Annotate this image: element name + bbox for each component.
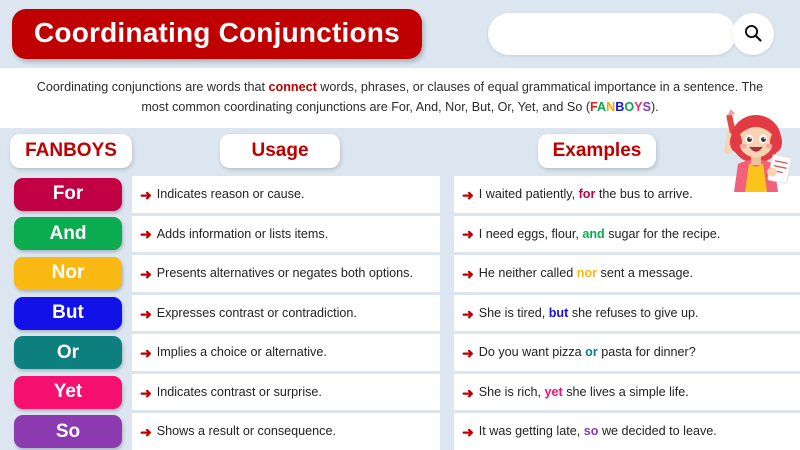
conjunction-chip-cell: For	[0, 176, 132, 213]
acronym-letter-y: Y	[634, 100, 642, 114]
example-highlight-word: yet	[545, 385, 563, 399]
table-row: Nor➜Presents alternatives or negates bot…	[0, 255, 800, 292]
example-highlight-word: so	[584, 424, 599, 438]
example-text-pre: She is tired,	[479, 306, 549, 320]
page-title-plate: Coordinating Conjunctions	[12, 9, 422, 59]
table-row: Yet➜Indicates contrast or surprise.➜She …	[0, 374, 800, 411]
example-text-pre: I waited patiently,	[479, 187, 579, 201]
conjunction-chip-or[interactable]: Or	[14, 336, 122, 369]
usage-text: Expresses contrast or contradiction.	[157, 305, 357, 322]
example-text-pre: I need eggs, flour,	[479, 227, 583, 241]
column-gap	[440, 295, 454, 332]
usage-text: Adds information or lists items.	[157, 226, 328, 243]
usage-text: Indicates reason or cause.	[157, 186, 305, 203]
example-highlight-word: nor	[577, 266, 597, 280]
bullet-arrow-icon: ➜	[462, 386, 474, 400]
conjunction-chip-but[interactable]: But	[14, 297, 122, 330]
search-input[interactable]	[488, 13, 736, 55]
example-text-post: the bus to arrive.	[595, 187, 692, 201]
bullet-arrow-icon: ➜	[140, 188, 152, 202]
description-band: Coordinating conjunctions are words that…	[0, 68, 800, 128]
example-highlight-word: but	[549, 306, 569, 320]
bullet-arrow-icon: ➜	[140, 386, 152, 400]
example-text-pre: Do you want pizza	[479, 345, 585, 359]
usage-cell: ➜Implies a choice or alternative.	[132, 334, 440, 371]
column-gap	[440, 374, 454, 411]
conjunction-chip-cell: But	[0, 295, 132, 332]
example-highlight-word: for	[579, 187, 596, 201]
acronym-letter-a: A	[597, 100, 606, 114]
conjunction-chip-for[interactable]: For	[14, 178, 122, 211]
bullet-arrow-icon: ➜	[462, 267, 474, 281]
table-row: But➜Expresses contrast or contradiction.…	[0, 295, 800, 332]
description-part3: ).	[651, 100, 659, 114]
example-text-pre: He neither called	[479, 266, 577, 280]
example-text: He neither called nor sent a message.	[479, 265, 693, 282]
table-row: Or➜Implies a choice or alternative.➜Do y…	[0, 334, 800, 371]
example-cell: ➜I waited patiently, for the bus to arri…	[454, 176, 800, 213]
example-highlight-word: and	[582, 227, 604, 241]
column-gap	[440, 413, 454, 450]
usage-cell: ➜Expresses contrast or contradiction.	[132, 295, 440, 332]
bullet-arrow-icon: ➜	[140, 307, 152, 321]
conjunction-chip-cell: Or	[0, 334, 132, 371]
usage-cell: ➜Presents alternatives or negates both o…	[132, 255, 440, 292]
example-cell: ➜I need eggs, flour, and sugar for the r…	[454, 216, 800, 253]
usage-text: Shows a result or consequence.	[157, 423, 336, 440]
bullet-arrow-icon: ➜	[462, 227, 474, 241]
example-text-pre: It was getting late,	[479, 424, 584, 438]
column-header-examples: Examples	[538, 134, 656, 168]
usage-cell: ➜Shows a result or consequence.	[132, 413, 440, 450]
conjunction-chip-cell: And	[0, 216, 132, 253]
column-gap	[440, 334, 454, 371]
column-header-usage: Usage	[220, 134, 340, 168]
example-cell: ➜Do you want pizza or pasta for dinner?	[454, 334, 800, 371]
usage-text: Implies a choice or alternative.	[157, 344, 327, 361]
description-text: Coordinating conjunctions are words that…	[35, 78, 765, 117]
usage-text: Indicates contrast or surprise.	[157, 384, 322, 401]
example-highlight-word: or	[585, 345, 598, 359]
conjunction-chip-cell: Yet	[0, 374, 132, 411]
example-text-post: she refuses to give up.	[568, 306, 698, 320]
acronym-letter-s: S	[643, 100, 651, 114]
conjunctions-table: For➜Indicates reason or cause.➜I waited …	[0, 176, 800, 450]
usage-cell: ➜Indicates contrast or surprise.	[132, 374, 440, 411]
bullet-arrow-icon: ➜	[462, 307, 474, 321]
conjunction-chip-cell: Nor	[0, 255, 132, 292]
acronym-letter-n: N	[606, 100, 615, 114]
bullet-arrow-icon: ➜	[462, 346, 474, 360]
example-cell: ➜She is rich, yet she lives a simple lif…	[454, 374, 800, 411]
acronym-letter-o: O	[624, 100, 634, 114]
conjunction-chip-cell: So	[0, 413, 132, 450]
example-text-post: she lives a simple life.	[563, 385, 689, 399]
bullet-arrow-icon: ➜	[140, 425, 152, 439]
example-cell: ➜She is tired, but she refuses to give u…	[454, 295, 800, 332]
description-part1: Coordinating conjunctions are words that	[37, 80, 269, 94]
bullet-arrow-icon: ➜	[140, 267, 152, 281]
column-gap	[440, 255, 454, 292]
example-text: I waited patiently, for the bus to arriv…	[479, 186, 693, 203]
example-text-post: sugar for the recipe.	[605, 227, 721, 241]
usage-cell: ➜Adds information or lists items.	[132, 216, 440, 253]
bullet-arrow-icon: ➜	[462, 188, 474, 202]
usage-cell: ➜Indicates reason or cause.	[132, 176, 440, 213]
acronym-letter-f: F	[590, 100, 597, 114]
column-headers: FANBOYS Usage Examples	[0, 134, 800, 172]
search-icon	[743, 23, 763, 46]
example-text: I need eggs, flour, and sugar for the re…	[479, 226, 721, 243]
example-text-pre: She is rich,	[479, 385, 545, 399]
example-text: She is rich, yet she lives a simple life…	[479, 384, 689, 401]
search-bar	[488, 12, 780, 56]
page-title: Coordinating Conjunctions	[34, 19, 400, 47]
example-cell: ➜It was getting late, so we decided to l…	[454, 413, 800, 450]
table-row: And➜Adds information or lists items.➜I n…	[0, 216, 800, 253]
bullet-arrow-icon: ➜	[462, 425, 474, 439]
example-text-post: sent a message.	[597, 266, 693, 280]
conjunction-chip-so[interactable]: So	[14, 415, 122, 448]
description-connect-word: connect	[269, 80, 317, 94]
column-gap	[440, 216, 454, 253]
conjunction-chip-and[interactable]: And	[14, 217, 122, 250]
conjunction-chip-nor[interactable]: Nor	[14, 257, 122, 290]
bullet-arrow-icon: ➜	[140, 346, 152, 360]
example-cell: ➜He neither called nor sent a message.	[454, 255, 800, 292]
column-header-fanboys: FANBOYS	[10, 134, 132, 168]
table-row: For➜Indicates reason or cause.➜I waited …	[0, 176, 800, 213]
example-text: Do you want pizza or pasta for dinner?	[479, 344, 696, 361]
usage-text: Presents alternatives or negates both op…	[157, 265, 413, 282]
search-button[interactable]	[732, 13, 774, 55]
column-gap	[440, 176, 454, 213]
example-text: It was getting late, so we decided to le…	[479, 423, 717, 440]
conjunction-chip-yet[interactable]: Yet	[14, 376, 122, 409]
acronym-letter-b: B	[615, 100, 624, 114]
example-text-post: we decided to leave.	[598, 424, 716, 438]
bullet-arrow-icon: ➜	[140, 227, 152, 241]
example-text-post: pasta for dinner?	[598, 345, 696, 359]
example-text: She is tired, but she refuses to give up…	[479, 305, 699, 322]
table-row: So➜Shows a result or consequence.➜It was…	[0, 413, 800, 450]
